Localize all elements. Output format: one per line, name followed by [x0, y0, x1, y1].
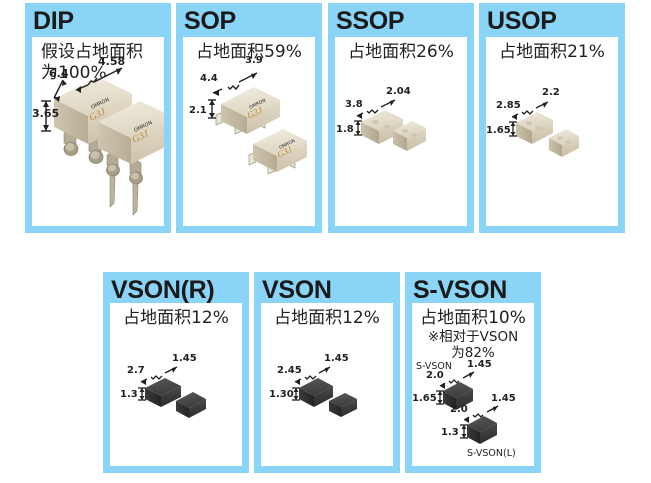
- dim-vson-top-right: 1.45: [324, 353, 349, 364]
- package-card-dip[interactable]: DIP 假设占地面积 为100%: [25, 3, 171, 233]
- dim-s-vson-top-left: 2.0: [426, 370, 444, 381]
- dim-vson-left: 1.30: [269, 389, 294, 400]
- label-s-vson-bottom: S-VSON(L): [467, 448, 516, 459]
- dim-ssop-top-left: 3.8: [345, 99, 363, 110]
- dim-usop-left: 1.65: [486, 125, 511, 136]
- package-illustration-usop: 2.85 2.2 1.65: [486, 37, 618, 226]
- label-s-vson-top: S-VSON: [416, 361, 452, 372]
- dim-s-vson-l-top-right: 1.45: [491, 393, 516, 404]
- dim-sop-top-left: 4.4: [200, 73, 218, 84]
- card-body-dip: 假设占地面积 为100%: [32, 37, 164, 226]
- dim-s-vson-l-left: 1.3: [441, 427, 459, 438]
- svg-text:OMRON: OMRON: [248, 98, 267, 111]
- dim-s-vson-l-top-left: 2.0: [450, 404, 468, 415]
- card-body-vson: 占地面积12%: [261, 303, 393, 466]
- package-card-usop[interactable]: USOP 占地面积21%: [479, 3, 625, 233]
- dim-ssop-left: 1.8: [336, 124, 354, 135]
- dim-vson-r-left: 1.3: [120, 389, 138, 400]
- note-s-vson-line2: 为82%: [412, 345, 534, 361]
- dim-vson-r-top-left: 2.7: [127, 365, 145, 376]
- card-title-s-vson: S-VSON: [405, 272, 541, 306]
- package-illustration-sop: OMRON G3J 4.4 3.9: [183, 37, 315, 226]
- card-body-s-vson: 占地面积10% ※相对于VSON 为82% S-VSON: [412, 303, 534, 466]
- card-body-sop: 占地面积59%: [183, 37, 315, 226]
- card-title-dip: DIP: [25, 3, 171, 37]
- card-title-vson-r: VSON(R): [103, 272, 249, 306]
- card-title-sop: SOP: [176, 3, 322, 37]
- card-body-usop: 占地面积21%: [486, 37, 618, 226]
- area-text-vson-r: 占地面积12%: [110, 303, 242, 329]
- dim-vson-top-left: 2.45: [277, 365, 302, 376]
- package-card-sop[interactable]: SOP 占地面积59%: [176, 3, 322, 233]
- dim-dip-left-lower: 3.65: [32, 107, 59, 120]
- note-s-vson-line1: ※相对于VSON: [412, 329, 534, 345]
- svg-text:G3J: G3J: [87, 106, 107, 123]
- svg-text:OMRON: OMRON: [133, 120, 153, 134]
- dim-s-vson-left: 1.65: [412, 393, 437, 404]
- area-text-dip-line1: 假设占地面积: [32, 37, 164, 63]
- area-text-vson: 占地面积12%: [261, 303, 393, 329]
- card-title-ssop: SSOP: [328, 3, 474, 37]
- card-title-vson: VSON: [254, 272, 400, 306]
- package-card-vson[interactable]: VSON 占地面积12%: [254, 272, 400, 473]
- svg-text:G3J: G3J: [246, 105, 265, 121]
- package-card-ssop[interactable]: SSOP 占地面积26%: [328, 3, 474, 233]
- package-card-vson-r[interactable]: VSON(R) 占地面积12%: [103, 272, 249, 473]
- svg-text:OMRON: OMRON: [90, 97, 110, 111]
- area-text-s-vson: 占地面积10%: [412, 303, 534, 329]
- package-illustration-ssop: 3.8 2.04 1.8: [335, 37, 467, 226]
- area-text-ssop: 占地面积26%: [335, 37, 467, 63]
- card-body-ssop: 占地面积26%: [335, 37, 467, 226]
- svg-text:G3J: G3J: [130, 128, 150, 145]
- area-text-usop: 占地面积21%: [486, 37, 618, 63]
- card-body-vson-r: 占地面积12%: [110, 303, 242, 466]
- dim-sop-left: 2.1: [189, 105, 207, 116]
- card-title-usop: USOP: [479, 3, 625, 37]
- svg-text:G3J: G3J: [275, 144, 294, 160]
- dim-ssop-top-right: 2.04: [386, 86, 411, 97]
- dim-usop-top-left: 2.85: [496, 100, 521, 111]
- dim-usop-top-right: 2.2: [542, 87, 560, 98]
- package-card-s-vson[interactable]: S-VSON 占地面积10% ※相对于VSON 为82% S-V: [405, 272, 541, 473]
- svg-text:OMRON: OMRON: [278, 138, 296, 151]
- dim-vson-r-top-right: 1.45: [172, 353, 197, 364]
- area-text-dip-line2: 为100%: [32, 63, 164, 84]
- area-text-sop: 占地面积59%: [183, 37, 315, 63]
